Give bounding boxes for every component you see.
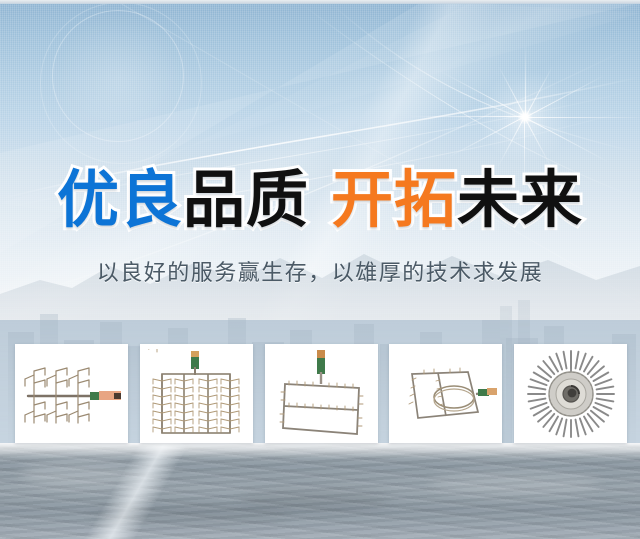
- product-card[interactable]: [265, 344, 378, 443]
- product-card[interactable]: [15, 344, 128, 443]
- product-card[interactable]: [389, 344, 502, 443]
- promo-banner: 优良品质开拓未来 以良好的服务赢生存，以雄厚的技术求发展: [0, 0, 640, 539]
- ground-surface: [0, 443, 640, 539]
- flat-frame-ring-rack-icon: [394, 354, 498, 434]
- page-title: 优良品质开拓未来: [0, 162, 640, 238]
- headline-part-4: 未来: [457, 162, 583, 238]
- comb-rack-hanger-icon: [20, 351, 124, 437]
- double-row-spike-rack-icon: [148, 349, 244, 439]
- page-subtitle: 以良好的服务赢生存，以雄厚的技术求发展: [0, 258, 640, 290]
- headline-part-1: 优良: [57, 162, 183, 238]
- product-card[interactable]: [514, 344, 627, 443]
- product-card-row: [15, 344, 627, 444]
- headline-part-3: 开拓: [331, 162, 457, 238]
- radial-sunburst-rack-icon: [525, 348, 617, 440]
- headline-part-2: 品质: [183, 162, 309, 238]
- rectangular-frame-rack-icon: [273, 348, 369, 440]
- product-card[interactable]: [140, 344, 253, 443]
- top-edge-strip: [0, 0, 640, 4]
